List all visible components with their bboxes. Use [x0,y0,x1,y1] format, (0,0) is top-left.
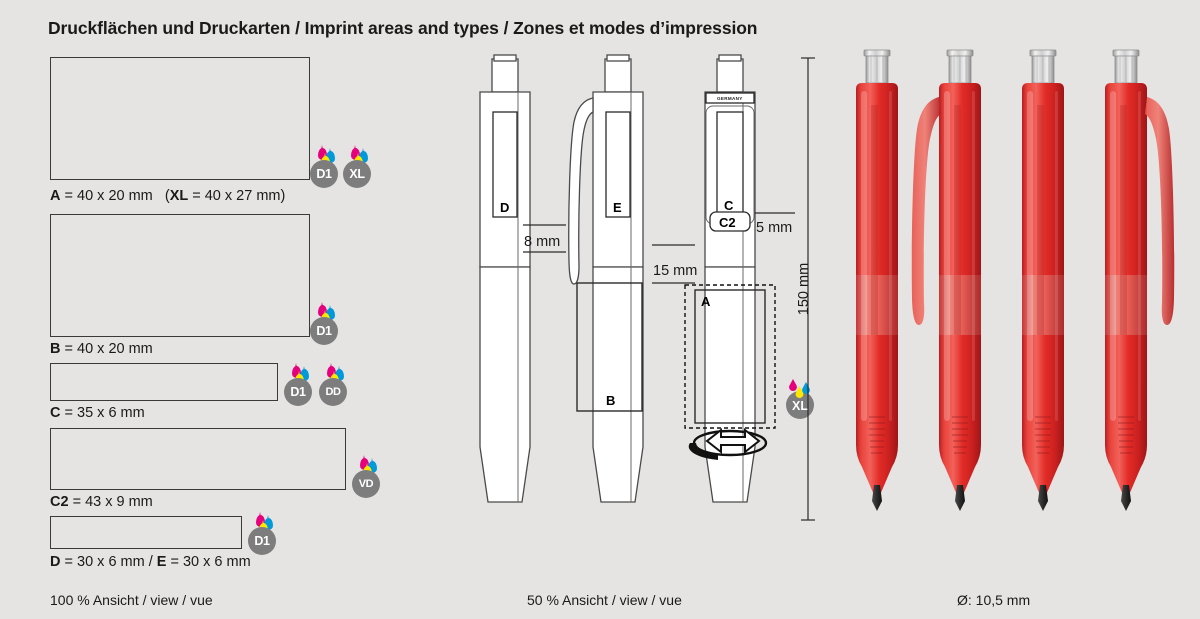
imprint-label-a: A = 40 x 20 mm (XL = 40 x 27 mm) [50,188,285,204]
imprint-label-de: D = 30 x 6 mm / E = 30 x 6 mm [50,554,251,570]
badge-xl-a: XL [341,148,375,188]
alt-code: XL [170,188,189,204]
page-title: Druckflächen und Druckarten / Imprint ar… [48,18,757,39]
code: B [50,341,60,357]
footer-caption-right: Ø: 10,5 mm [957,592,1030,608]
dim-8mm: 8 mm [524,234,560,250]
badge-label: D1 [284,378,312,406]
size: = 40 x 20 mm [65,341,153,357]
area-label-a: A [701,294,711,309]
alt-size: = 30 x 6 mm [171,554,251,570]
code: D [50,554,60,570]
area-label-b: B [606,393,615,408]
imprint-box-b [50,214,310,337]
pen-photo-4 [1105,50,1174,511]
pen-technical-drawings: D 8 mm E B 15 mm [440,40,840,550]
badge-vd-c2: VD [350,458,384,498]
germany-text: GERMANY [717,96,743,101]
area-label-e: E [613,200,622,215]
imprint-box-c2 [50,428,346,490]
badge-d1-b: D1 [308,305,342,345]
imprint-label-c: C = 35 x 6 mm [50,405,145,421]
badge-label: DD [319,378,347,406]
badge-label: XL [792,399,808,413]
badge-xl-pen: XL [786,379,814,419]
size: = 35 x 6 mm [65,405,145,421]
pen-photo-1 [856,50,898,511]
badge-label: VD [352,470,380,498]
footer-caption-left: 100 % Ansicht / view / vue [50,592,213,608]
imprint-label-b: B = 40 x 20 mm [50,341,153,357]
badge-d1-a: D1 [308,148,342,188]
imprint-box-a [50,57,310,180]
size: = 30 x 6 mm / [65,554,153,570]
size: = 40 x 20 mm [65,188,153,204]
dim-5mm: 5 mm [756,220,792,236]
footer-caption-center: 50 % Ansicht / view / vue [527,592,682,608]
spec-sheet: Druckflächen und Druckarten / Imprint ar… [0,0,1200,619]
area-label-c2: C2 [719,215,736,230]
badge-label: D1 [310,160,338,188]
pen-photo-2 [912,50,981,511]
badge-d1-c: D1 [282,366,316,406]
code: C2 [50,494,69,510]
badge-dd-c: DD [317,366,351,406]
pen-photo-3 [1022,50,1064,511]
imprint-label-c2: C2 = 43 x 9 mm [50,494,153,510]
dimension-total-length: 150 mm [796,58,815,520]
imprint-box-c [50,363,278,401]
dim-150mm: 150 mm [796,263,812,315]
code: C [50,405,60,421]
badge-d1-de: D1 [246,515,280,555]
imprint-box-de [50,516,242,549]
size: = 43 x 9 mm [73,494,153,510]
alt-code: E [157,554,167,570]
code: A [50,188,60,204]
area-label-c: C [724,198,734,213]
badge-label: XL [343,160,371,188]
area-label-d: D [500,200,509,215]
dim-15mm: 15 mm [653,263,697,279]
badge-label: D1 [248,527,276,555]
alt-size: = 40 x 27 mm [192,188,280,204]
badge-label: D1 [310,317,338,345]
pen-photos-red [850,45,1180,555]
